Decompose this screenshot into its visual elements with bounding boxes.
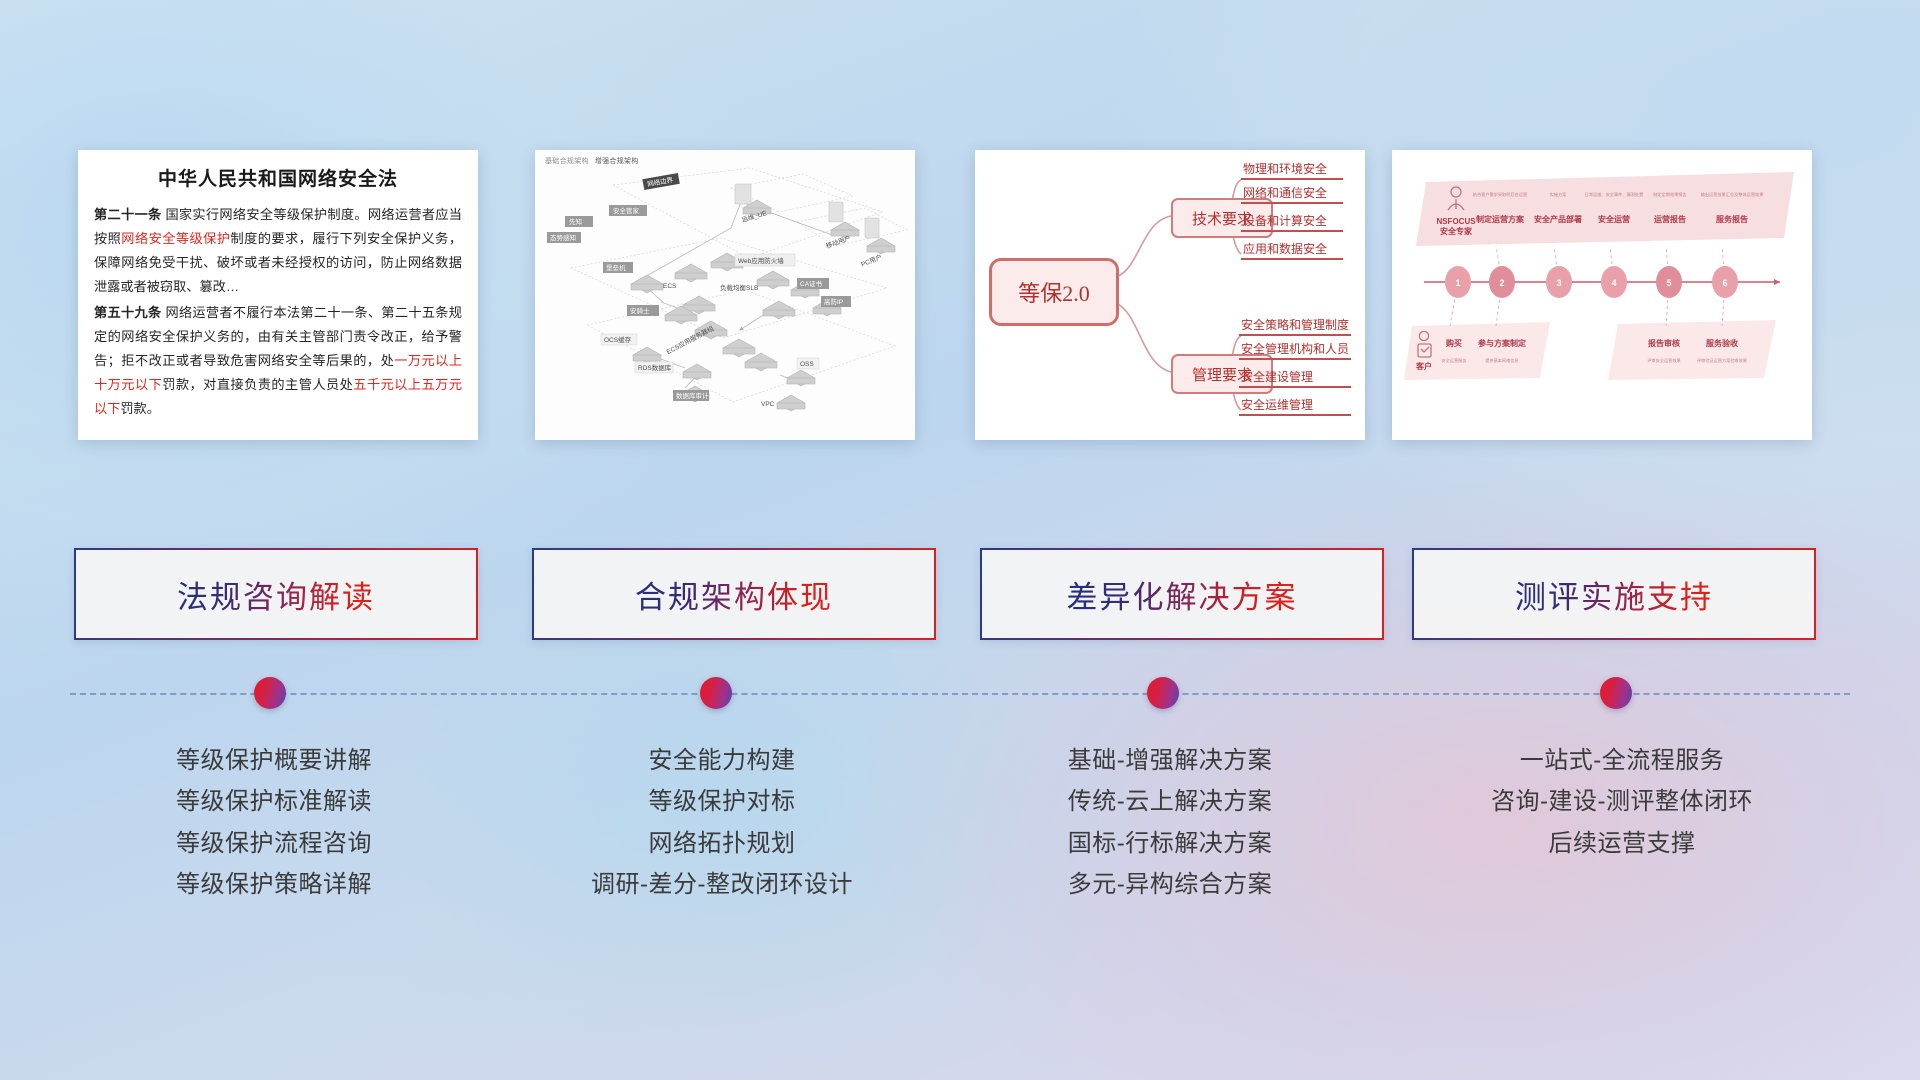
arch-node-label: VPC [761, 401, 775, 408]
article-21-highlight: 网络安全等级保护 [121, 231, 230, 246]
mindmap-leaf-underline [1239, 414, 1351, 416]
architecture-svg: 网络边界 安全管家 先知 态势感知 堡垒机 运维_UE 移动用户 PC用户 [535, 150, 915, 440]
arch-node-label: 安全管家 [613, 206, 640, 215]
title-label: 测评实施支持 [1515, 572, 1713, 617]
nsfocus-top-sub: 制定定期效果报告 [1653, 191, 1687, 198]
timeline-dot-3[interactable] [1147, 677, 1179, 709]
timeline-dashed-line [70, 693, 1850, 695]
nsfocus-top-sub: 实施方案 [1550, 191, 1568, 198]
card-architecture-diagram: 基础合规架构 增强合规架构 [535, 150, 915, 440]
mindmap-leaf: 设备和计算安全 [1243, 212, 1327, 229]
list-item: 后续运营支撑 [1392, 823, 1852, 864]
nsfocus-step-number: 2 [1499, 278, 1504, 288]
mindmap-leaf-underline [1239, 358, 1351, 360]
arch-node-label: RDS数据库 [638, 363, 672, 372]
list-item: 等级保护概要讲解 [44, 740, 504, 781]
card-mindmap: 等保2.0 技术要求 管理要求 物理和环境安全 网络和通信安全 设备和计算安全 … [975, 150, 1365, 440]
nsfocus-customer-label: 客户 [1415, 361, 1432, 371]
mindmap-leaf: 安全建设管理 [1241, 368, 1313, 385]
nsfocus-brand-line1: NSFOCUS [1436, 217, 1476, 226]
slide-canvas: 中华人民共和国网络安全法 第二十一条 国家实行网络安全等级保护制度。网络运营者应… [0, 0, 1920, 1080]
nsfocus-step-number: 4 [1611, 278, 1616, 288]
mindmap-leaf: 网络和通信安全 [1243, 184, 1327, 201]
nsfocus-step-number: 1 [1455, 278, 1460, 288]
nsfocus-top-sub: 日常运维、安全事件、漏洞处置 [1585, 191, 1644, 198]
arch-node-label: Web应用防火墙 [738, 256, 784, 265]
law-body: 中华人民共和国网络安全法 第二十一条 国家实行网络安全等级保护制度。网络运营者应… [78, 150, 478, 440]
title-box-evaluation-support[interactable]: 测评实施支持 [1412, 548, 1816, 640]
nsfocus-top-title: 运营报告 [1654, 214, 1686, 224]
article-59-label: 第五十九条 [94, 305, 161, 320]
detail-column-1: 等级保护概要讲解 等级保护标准解读 等级保护流程咨询 等级保护策略详解 [44, 740, 504, 905]
title-label: 法规咨询解读 [177, 572, 375, 617]
nsfocus-bottom-title: 购买 [1446, 338, 1462, 348]
nsfocus-bottom-sub: 提供基本网络信息 [1485, 357, 1519, 364]
timeline-dot-1[interactable] [254, 677, 286, 709]
arch-node-label: ECS [663, 283, 677, 290]
timeline-dot-4[interactable] [1600, 677, 1632, 709]
mindmap-root: 等保2.0 [989, 258, 1119, 326]
nsfocus-step-number: 6 [1722, 278, 1727, 288]
title-box-regulation-consulting[interactable]: 法规咨询解读 [74, 548, 478, 640]
arch-node-label: CA证书 [800, 279, 823, 288]
mindmap-leaf-underline [1241, 178, 1343, 180]
arch-node-label: 态势感知 [550, 233, 576, 242]
list-item: 咨询-建设-测评整体闭环 [1392, 781, 1852, 822]
nsfocus-top-title: 制定运营方案 [1476, 214, 1525, 224]
list-item: 安全能力构建 [492, 740, 952, 781]
detail-column-3: 基础-增强解决方案 传统-云上解决方案 国标-行标解决方案 多元-异构综合方案 [940, 740, 1400, 905]
arch-node-label: 安骑士 [630, 306, 650, 315]
nsfocus-bottom-title: 报告审核 [1648, 338, 1680, 348]
list-item: 调研-差分-整改闭环设计 [492, 864, 952, 905]
article-59-text-2: 罚款，对直接负责的主管人员处 [162, 377, 353, 392]
nsfocus-bottom-sub: 评审验证运营方案验收效果 [1697, 357, 1748, 364]
list-item: 一站式-全流程服务 [1392, 740, 1852, 781]
nsfocus-bottom-sub: 评审安全运营效果 [1647, 357, 1681, 364]
list-item: 国标-行标解决方案 [940, 823, 1400, 864]
arch-node-label: 负载均衡SLB [720, 283, 758, 292]
arch-node-label: PC用户 [859, 252, 883, 269]
law-article-59: 第五十九条 网络运营者不履行本法第二十一条、第二十五条规定的网络安全保护义务的，… [94, 301, 462, 421]
law-article-21: 第二十一条 国家实行网络安全等级保护制度。网络运营者应当按照网络安全等级保护制度… [94, 203, 462, 299]
nsfocus-canvas: 1 2 3 4 5 6 NSFOCUS 安全专家 [1392, 150, 1812, 440]
card-nsfocus-timeline: 1 2 3 4 5 6 NSFOCUS 安全专家 [1392, 150, 1812, 440]
title-box-compliance-architecture[interactable]: 合规架构体现 [532, 548, 936, 640]
mindmap-leaf: 安全策略和管理制度 [1241, 316, 1349, 333]
nsfocus-bottom-title: 服务验收 [1706, 338, 1738, 348]
list-item: 等级保护策略详解 [44, 864, 504, 905]
nsfocus-top-title: 安全产品部署 [1534, 214, 1582, 224]
law-title: 中华人民共和国网络安全法 [94, 164, 462, 191]
card-law-text: 中华人民共和国网络安全法 第二十一条 国家实行网络安全等级保护制度。网络运营者应… [78, 150, 478, 440]
card-row: 中华人民共和国网络安全法 第二十一条 国家实行网络安全等级保护制度。网络运营者应… [0, 150, 1920, 450]
timeline-dot-2[interactable] [700, 677, 732, 709]
nsfocus-top-sub: 输出运营效果汇总及整体运营效果 [1701, 191, 1765, 198]
arch-node-label: OSS [800, 361, 814, 368]
nsfocus-svg: 1 2 3 4 5 6 NSFOCUS 安全专家 [1392, 150, 1812, 440]
mindmap-leaf: 安全管理机构和人员 [1241, 340, 1349, 357]
arch-node-label: 数据库审计 [676, 391, 709, 400]
mindmap-leaf-underline [1239, 386, 1351, 388]
arch-node-label: 高防IP [824, 297, 843, 306]
list-item: 多元-异构综合方案 [940, 864, 1400, 905]
nsfocus-top-title: 安全运营 [1598, 214, 1630, 224]
arch-node-label: OCS缓存 [604, 335, 632, 344]
list-item: 等级保护对标 [492, 781, 952, 822]
nsfocus-bottom-title: 参与方案制定 [1477, 338, 1526, 348]
timeline [0, 690, 1920, 700]
mindmap-canvas: 等保2.0 技术要求 管理要求 物理和环境安全 网络和通信安全 设备和计算安全 … [975, 150, 1365, 440]
title-label: 差异化解决方案 [1067, 572, 1298, 617]
nsfocus-bottom-sub: 安全运营服务 [1441, 357, 1467, 364]
title-row: 法规咨询解读 合规架构体现 差异化解决方案 测评实施支持 [0, 548, 1920, 640]
mindmap-leaf-underline [1241, 230, 1343, 232]
architecture-canvas: 基础合规架构 增强合规架构 [535, 150, 915, 440]
detail-column-2: 安全能力构建 等级保护对标 网络拓扑规划 调研-差分-整改闭环设计 [492, 740, 952, 905]
nsfocus-step-number: 5 [1666, 278, 1671, 288]
nsfocus-top-sub: 结合客户需求采取明后台运营 [1473, 191, 1527, 198]
mindmap-leaf-underline [1239, 334, 1351, 336]
list-item: 网络拓扑规划 [492, 823, 952, 864]
mindmap-leaf: 安全运维管理 [1241, 396, 1313, 413]
mindmap-leaf-underline [1241, 202, 1343, 204]
list-item: 传统-云上解决方案 [940, 781, 1400, 822]
nsfocus-brand-line2: 安全专家 [1440, 226, 1473, 236]
list-item: 等级保护标准解读 [44, 781, 504, 822]
mindmap-leaf: 物理和环境安全 [1243, 160, 1327, 177]
title-label: 合规架构体现 [635, 572, 833, 617]
arch-node-label: ECS应用服务器组 [665, 323, 716, 356]
arch-node-label: 先知 [569, 217, 582, 226]
list-item: 基础-增强解决方案 [940, 740, 1400, 781]
article-59-text-3: 罚款。 [120, 401, 160, 416]
title-box-differentiated-solution[interactable]: 差异化解决方案 [980, 548, 1384, 640]
list-item: 等级保护流程咨询 [44, 823, 504, 864]
detail-column-4: 一站式-全流程服务 咨询-建设-测评整体闭环 后续运营支撑 [1392, 740, 1852, 864]
mindmap-leaf: 应用和数据安全 [1243, 240, 1327, 257]
detail-lists: 等级保护概要讲解 等级保护标准解读 等级保护流程咨询 等级保护策略详解 安全能力… [0, 740, 1920, 980]
nsfocus-top-title: 服务报告 [1716, 214, 1748, 224]
nsfocus-step-number: 3 [1556, 278, 1561, 288]
mindmap-leaf-underline [1241, 258, 1343, 260]
article-21-label: 第二十一条 [94, 207, 161, 222]
arch-node-label: 堡垒机 [606, 263, 626, 272]
